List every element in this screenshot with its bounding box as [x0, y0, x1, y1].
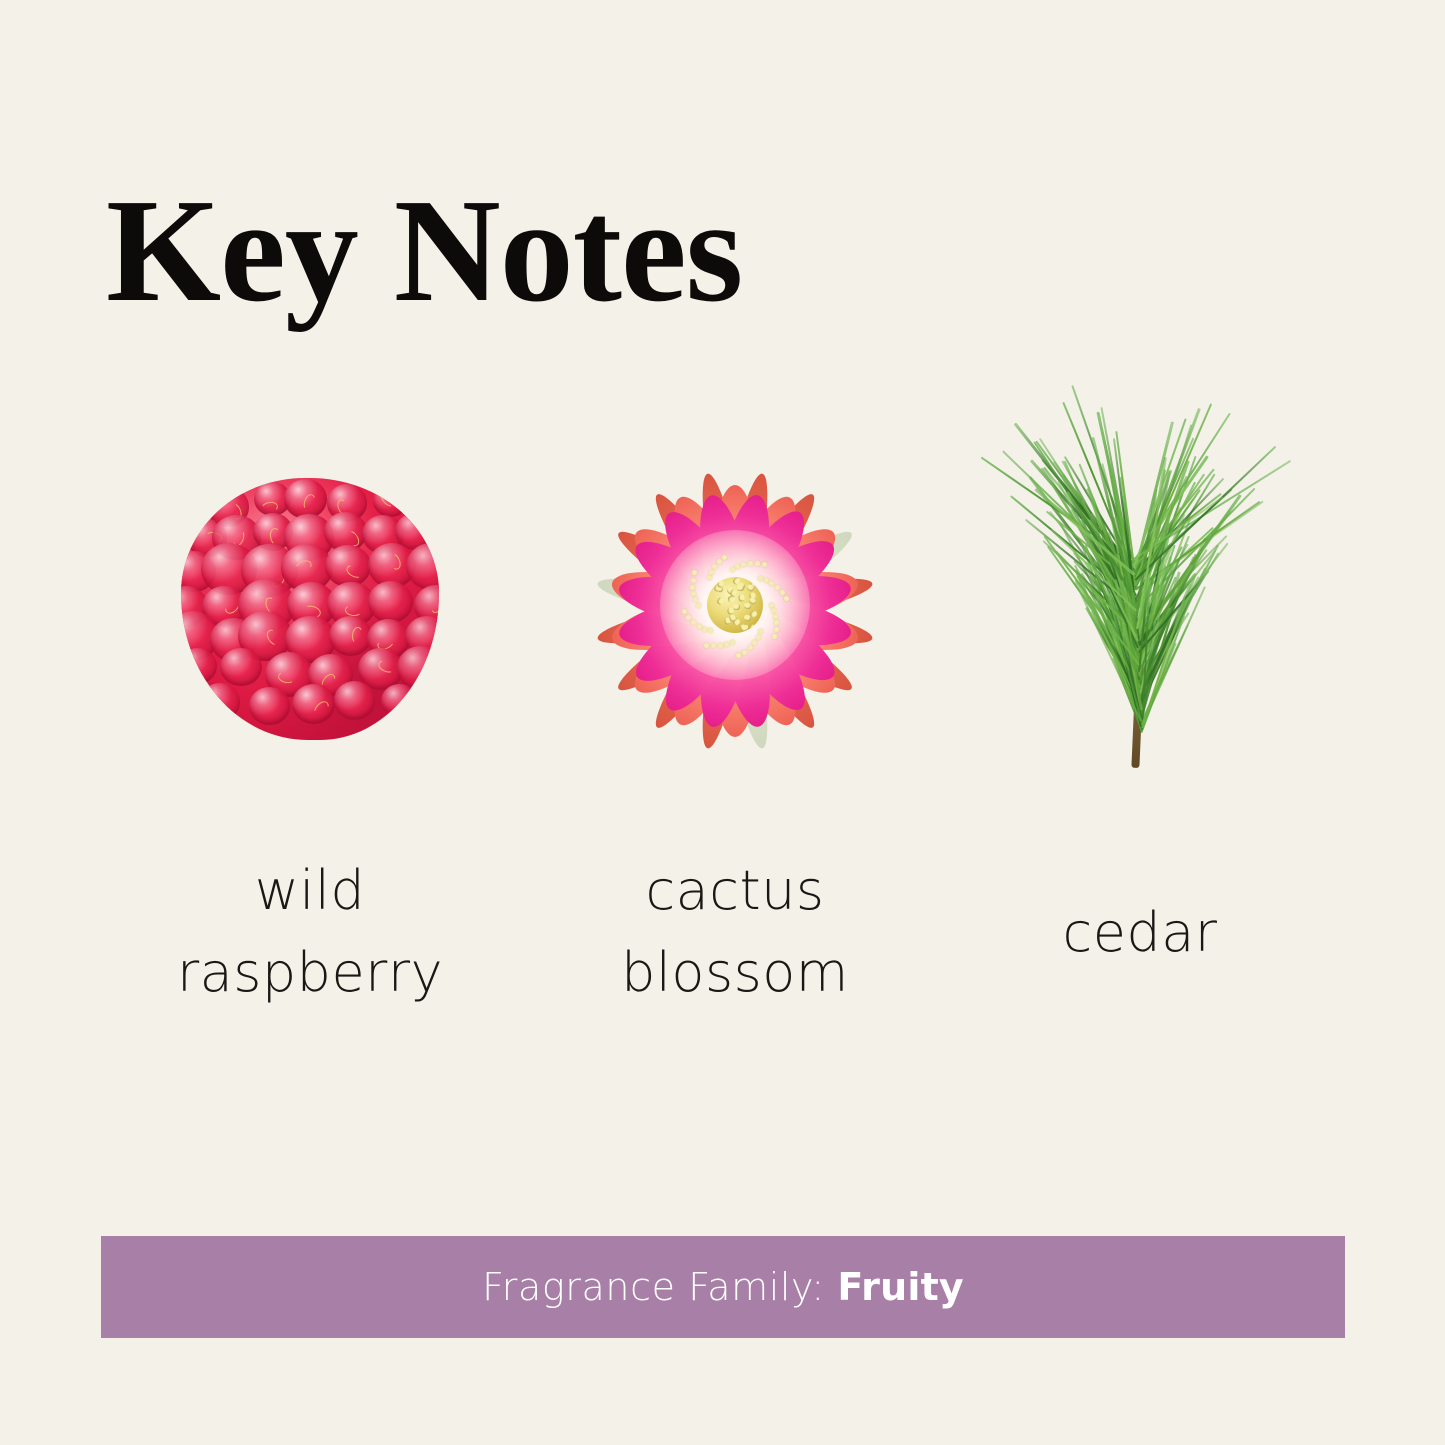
note-label-wild-raspberry: wild raspberry	[100, 850, 520, 1014]
fragrance-family-value: Fruity	[837, 1265, 963, 1309]
note-item-cactus-blossom: cactus blossom	[525, 410, 945, 1050]
fragrance-family-banner: Fragrance Family: Fruity	[101, 1236, 1345, 1338]
page-title: Key Notes	[106, 177, 742, 325]
note-item-cedar: cedar	[930, 410, 1350, 1050]
note-art-wrapper	[930, 410, 1350, 810]
cactus-blossom-icon	[595, 462, 875, 748]
note-art-wrapper	[100, 410, 520, 810]
fragrance-family-prefix: Fragrance Family:	[482, 1265, 837, 1309]
note-label-cedar: cedar	[930, 892, 1350, 974]
note-label-cactus-blossom: cactus blossom	[525, 850, 945, 1014]
raspberry-icon	[181, 478, 439, 740]
cedar-sprig-icon	[1035, 424, 1245, 774]
note-art-wrapper	[525, 410, 945, 810]
note-item-wild-raspberry: wild raspberry	[100, 410, 520, 1050]
key-notes-row: wild raspberry cactus blossom	[0, 410, 1445, 1050]
fragrance-family-text: Fragrance Family: Fruity	[482, 1265, 964, 1309]
key-notes-panel: Key Notes wild raspberry	[0, 0, 1445, 1445]
